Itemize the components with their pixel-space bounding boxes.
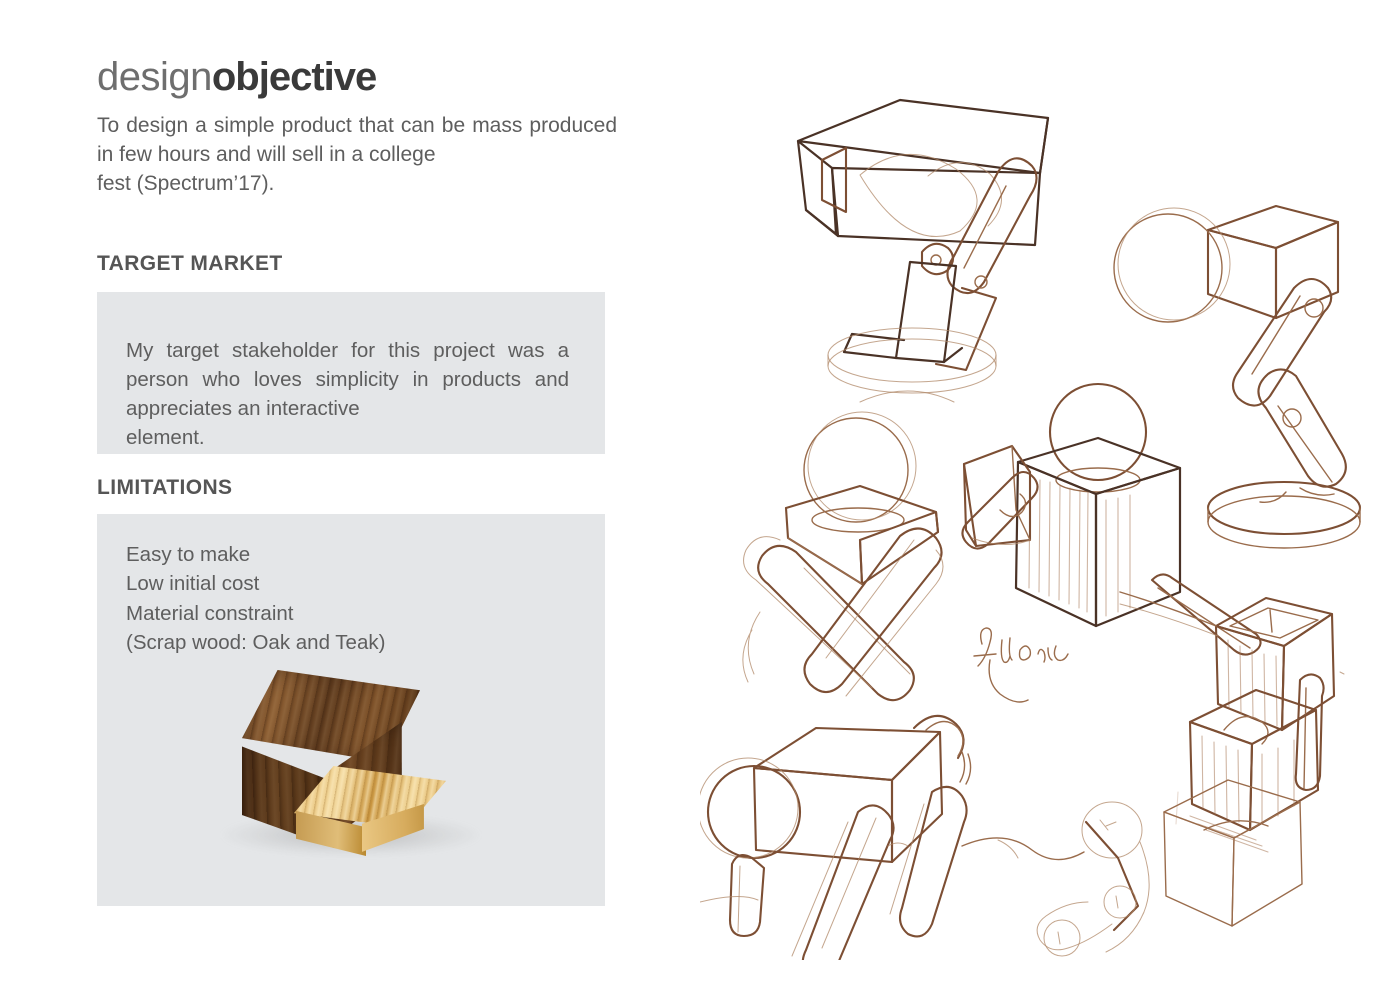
page-title-light: design (97, 55, 212, 99)
portfolio-page: designobjective To design a simple produ… (0, 0, 1400, 990)
list-item: Easy to make (126, 540, 566, 569)
page-title: designobjective (97, 56, 617, 98)
concept-sketches: .ink{fill:none;stroke:#7d4f34;stroke-lin… (700, 40, 1390, 960)
sketch-four-legged-box-lamp (700, 716, 1084, 960)
target-market-body: My target stakeholder for this project w… (126, 336, 569, 453)
limitations-list: Easy to make Low initial cost Material c… (126, 540, 566, 657)
sketch-canvas: .ink{fill:none;stroke:#7d4f34;stroke-lin… (700, 40, 1390, 960)
target-market-text-last-line: element. (126, 423, 569, 452)
sketch-rectangular-box-lamp (798, 100, 1048, 402)
limitations-panel: Easy to make Low initial cost Material c… (97, 514, 605, 906)
list-item: (Scrap wood: Oak and Teak) (126, 628, 566, 657)
sketch-articulated-arm-lamp (1114, 206, 1360, 548)
sketch-jointed-linkage-arm (998, 802, 1149, 956)
target-market-panel: My target stakeholder for this project w… (97, 292, 605, 454)
intro-text-last-line: fest (Spectrum’17). (97, 170, 617, 199)
page-title-bold: objective (212, 55, 376, 99)
sketch-cube-head-dual-arms (743, 412, 943, 700)
limitations-heading: LIMITATIONS (97, 476, 232, 500)
sketch-block-lamp-sphere (1016, 384, 1261, 655)
handwritten-annotation (974, 628, 1068, 702)
material-photo (212, 664, 492, 879)
list-item: Low initial cost (126, 569, 566, 598)
intro-text: To design a simple product that can be m… (97, 114, 617, 166)
sketch-wedge-bracket (962, 446, 1037, 549)
oak-strip (290, 766, 450, 858)
target-market-heading: TARGET MARKET (97, 252, 283, 276)
sketch-stacked-modular-blocks (1120, 592, 1344, 926)
intro-paragraph: To design a simple product that can be m… (97, 112, 617, 199)
list-item: Material constraint (126, 599, 566, 628)
left-content-column: designobjective To design a simple produ… (97, 56, 617, 199)
target-market-text: My target stakeholder for this project w… (126, 339, 569, 421)
